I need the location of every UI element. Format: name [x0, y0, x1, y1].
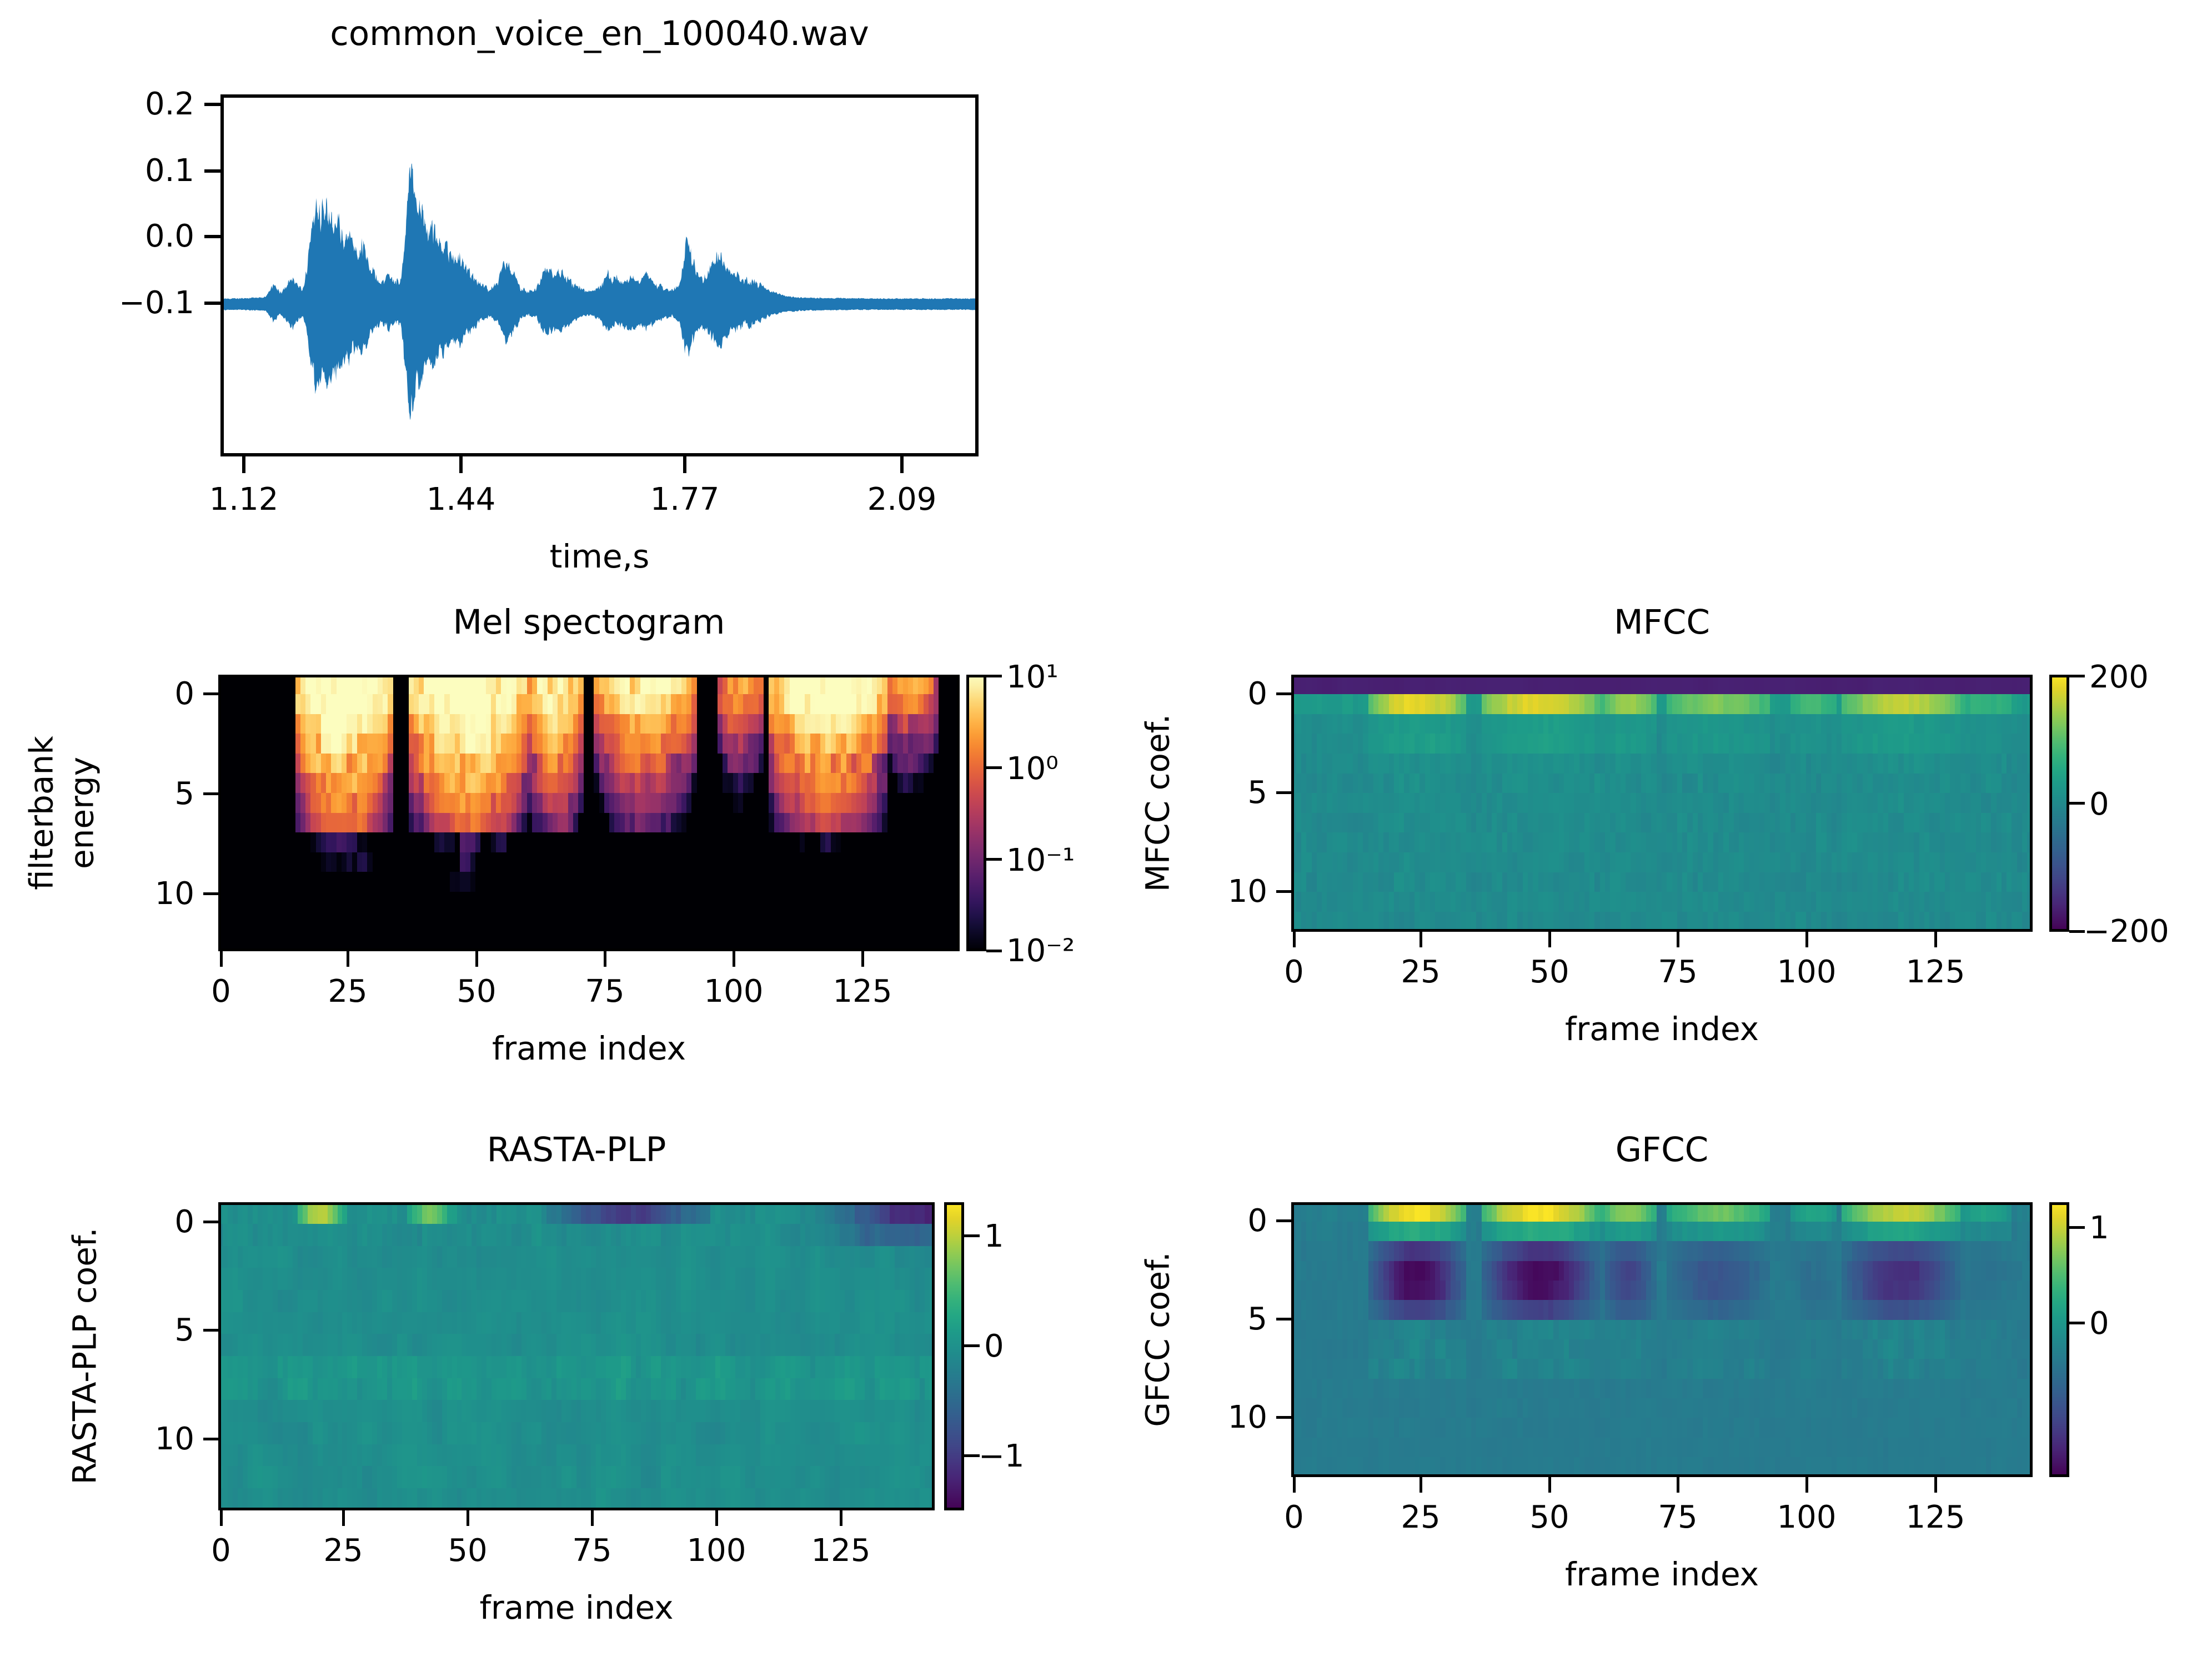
mfcc-xtick-3	[1677, 932, 1679, 947]
gfcc-xtick-5	[1934, 1477, 1937, 1493]
gfcc-xticklabel: 125	[1906, 1502, 1965, 1533]
rasta-ytick-0	[203, 1221, 219, 1223]
rasta-xtick-1	[342, 1510, 345, 1526]
rasta-xtick-2	[467, 1510, 469, 1526]
gfcc-colorbar-frame	[2049, 1202, 2069, 1477]
rasta-xtick-4	[715, 1510, 718, 1526]
mfcc-xtick-5	[1934, 932, 1937, 947]
gfcc-xlabel: frame index	[1291, 1558, 2033, 1591]
rasta-cbar-label: 0	[984, 1331, 1073, 1362]
mel-cbar-tick-2	[986, 858, 1002, 861]
gfcc-title: GFCC	[1291, 1133, 2033, 1167]
waveform-xtick-3	[900, 456, 904, 473]
mel-cbar-tick-3	[986, 950, 1002, 952]
rasta-xtick-0	[220, 1510, 223, 1526]
waveform-ytick-1	[204, 169, 221, 173]
rasta-cbar-tick-2	[964, 1454, 980, 1457]
gfcc-yticklabel: 0	[1184, 1206, 1267, 1237]
mfcc-colorbar-frame	[2049, 675, 2069, 932]
rasta-xtick-3	[591, 1510, 594, 1526]
gfcc-ytick-2	[1276, 1416, 1292, 1419]
waveform-xtick-1	[459, 456, 463, 473]
waveform-yticklabel: −0.1	[56, 288, 194, 319]
rasta-ytick-1	[203, 1329, 219, 1332]
mfcc-cbar-tick-1	[2069, 802, 2085, 805]
mfcc-yticklabel: 10	[1184, 876, 1267, 907]
waveform-xticklabel: 1.44	[427, 484, 496, 515]
gfcc-xtick-3	[1677, 1477, 1679, 1493]
mel-cbar-tick-0	[986, 675, 1002, 677]
gfcc-ylabel: GFCC coef.	[1141, 1252, 1175, 1427]
mel-xtick-4	[733, 951, 735, 967]
mel-xticklabel: 25	[328, 976, 367, 1007]
waveform-ytick-3	[204, 302, 221, 305]
rasta-ytick-2	[203, 1438, 219, 1440]
gfcc-xticklabel: 25	[1401, 1502, 1440, 1533]
mel-yticklabel: 5	[111, 779, 194, 810]
mfcc-xtick-1	[1420, 932, 1422, 947]
mel-ylabel-line1: filterbank	[25, 736, 59, 890]
mfcc-ytick-2	[1276, 890, 1292, 893]
mel-xtick-2	[475, 951, 478, 967]
mel-cbar-tick-1	[986, 766, 1002, 769]
mfcc-yticklabel: 0	[1184, 679, 1267, 710]
mfcc-xtick-2	[1548, 932, 1551, 947]
rasta-yticklabel: 0	[111, 1207, 194, 1238]
rasta-yticklabel: 10	[111, 1424, 194, 1455]
mel-ytick-1	[203, 792, 219, 795]
mel-ytick-0	[203, 692, 219, 695]
mel-xtick-0	[220, 951, 223, 967]
mel-xticklabel: 75	[585, 976, 624, 1007]
waveform-ytick-0	[204, 103, 221, 106]
mfcc-cbar-tick-0	[2069, 675, 2085, 677]
gfcc-xticklabel: 100	[1777, 1502, 1837, 1533]
rasta-xticklabel: 50	[448, 1535, 487, 1566]
mel-xtick-5	[861, 951, 864, 967]
gfcc-xticklabel: 50	[1529, 1502, 1569, 1533]
waveform-yticklabel: 0.0	[67, 221, 194, 252]
mfcc-cbar-label: −200	[2084, 916, 2206, 947]
mel-yticklabel: 0	[111, 679, 194, 710]
mfcc-ytick-1	[1276, 791, 1292, 794]
mfcc-xtick-4	[1805, 932, 1808, 947]
mel-cbar-label: 10⁰	[1006, 754, 1117, 785]
rasta-xtick-5	[840, 1510, 842, 1526]
mel-yticklabel: 10	[111, 878, 194, 910]
mfcc-xticklabel: 25	[1401, 957, 1440, 988]
mfcc-xticklabel: 50	[1529, 957, 1569, 988]
mfcc-axes-frame	[1291, 675, 2033, 932]
gfcc-ytick-0	[1276, 1219, 1292, 1222]
mel-ytick-2	[203, 892, 219, 895]
gfcc-cbar-tick-1	[2069, 1322, 2085, 1324]
mfcc-cbar-label: 200	[2089, 662, 2206, 693]
rasta-xticklabel: 75	[572, 1535, 611, 1566]
gfcc-xtick-0	[1293, 1477, 1296, 1493]
rasta-cbar-label: 1	[984, 1221, 1073, 1252]
rasta-cbar-label: −1	[979, 1441, 1073, 1472]
gfcc-xticklabel: 0	[1284, 1502, 1304, 1533]
mfcc-xtick-0	[1293, 932, 1296, 947]
mel-cbar-label: 10¹	[1006, 662, 1117, 693]
rasta-cbar-tick-1	[964, 1344, 980, 1347]
mel-title: Mel spectogram	[218, 605, 960, 639]
mfcc-xticklabel: 100	[1777, 957, 1837, 988]
mel-cbar-label: 10⁻¹	[1006, 845, 1117, 876]
gfcc-axes-frame	[1291, 1202, 2033, 1477]
mfcc-xticklabel: 125	[1906, 957, 1965, 988]
rasta-title: RASTA-PLP	[218, 1133, 935, 1167]
mel-xticklabel: 100	[704, 976, 764, 1007]
waveform-title: common_voice_en_100040.wav	[220, 17, 979, 51]
mfcc-ytick-0	[1276, 692, 1292, 695]
mel-cbar-label: 10⁻²	[1006, 936, 1117, 967]
mel-colorbar-frame	[966, 675, 986, 951]
rasta-xticklabel: 0	[211, 1535, 231, 1566]
rasta-xlabel: frame index	[218, 1591, 935, 1625]
rasta-yticklabel: 5	[111, 1315, 194, 1346]
waveform-xtick-2	[683, 456, 686, 473]
mel-xticklabel: 125	[833, 976, 892, 1007]
mfcc-xlabel: frame index	[1291, 1012, 2033, 1046]
mfcc-xticklabel: 75	[1658, 957, 1697, 988]
waveform-yticklabel: 0.1	[67, 155, 194, 187]
gfcc-yticklabel: 10	[1184, 1402, 1267, 1433]
mel-axes-frame	[218, 675, 960, 951]
waveform-ytick-2	[204, 235, 221, 238]
mel-xticklabel: 0	[211, 976, 231, 1007]
mel-xticklabel: 50	[457, 976, 496, 1007]
mel-xtick-3	[604, 951, 606, 967]
mfcc-ylabel: MFCC coef.	[1141, 714, 1175, 892]
rasta-axes-frame	[218, 1202, 935, 1510]
mel-ylabel-line2: energy	[66, 757, 99, 869]
rasta-colorbar-frame	[944, 1202, 964, 1510]
rasta-cbar-tick-0	[964, 1234, 980, 1237]
mfcc-yticklabel: 5	[1184, 777, 1267, 809]
mfcc-xticklabel: 0	[1284, 957, 1304, 988]
mfcc-cbar-tick-2	[2069, 930, 2085, 933]
rasta-ylabel: RASTA-PLP coef.	[68, 1227, 102, 1484]
gfcc-cbar-label: 0	[2089, 1308, 2178, 1339]
rasta-xticklabel: 100	[687, 1535, 746, 1566]
gfcc-cbar-tick-0	[2069, 1226, 2085, 1229]
waveform-axes-frame	[220, 94, 979, 456]
rasta-xticklabel: 25	[323, 1535, 363, 1566]
gfcc-yticklabel: 5	[1184, 1304, 1267, 1335]
mfcc-title: MFCC	[1291, 605, 2033, 639]
gfcc-xtick-2	[1548, 1477, 1551, 1493]
waveform-xtick-0	[242, 456, 245, 473]
gfcc-xtick-1	[1420, 1477, 1422, 1493]
waveform-xticklabel: 2.09	[867, 484, 937, 515]
rasta-xticklabel: 125	[811, 1535, 871, 1566]
mel-xtick-1	[347, 951, 349, 967]
waveform-xlabel: time,s	[220, 540, 979, 574]
gfcc-ytick-1	[1276, 1318, 1292, 1320]
waveform-yticklabel: 0.2	[67, 89, 194, 120]
gfcc-xtick-4	[1805, 1477, 1808, 1493]
waveform-xticklabel: 1.12	[209, 484, 279, 515]
waveform-xticklabel: 1.77	[650, 484, 720, 515]
mel-xlabel: frame index	[218, 1032, 960, 1066]
mfcc-cbar-label: 0	[2089, 789, 2206, 820]
gfcc-cbar-label: 1	[2089, 1213, 2178, 1244]
gfcc-xticklabel: 75	[1658, 1502, 1697, 1533]
